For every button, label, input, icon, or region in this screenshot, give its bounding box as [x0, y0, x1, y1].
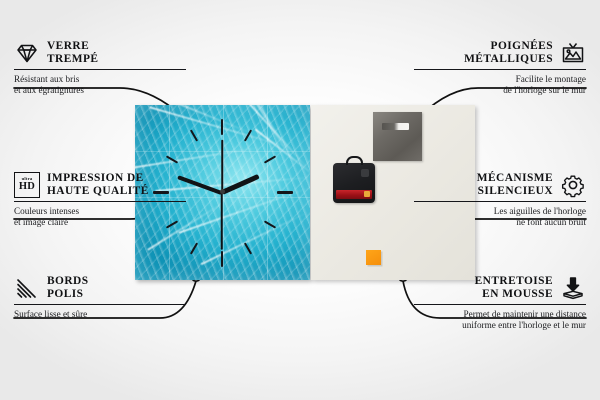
- callout-description: Surface lisse et sûre: [14, 309, 186, 320]
- callout-impression-haute-qualite: ultra HD IMPRESSION DE HAUTE QUALITÉ Cou…: [14, 172, 186, 228]
- aa-battery: [336, 190, 372, 199]
- callout-entretoise-en-mousse: ENTRETOISE EN MOUSSE Permet de maintenir…: [414, 275, 586, 331]
- battery-plus-terminal: [364, 191, 370, 197]
- callout-title: MÉCANISME SILENCIEUX: [477, 172, 553, 197]
- ultra-hd-icon: ultra HD: [14, 172, 40, 198]
- wall-mount-frame-icon: [560, 40, 586, 66]
- clock-tick: [264, 155, 276, 163]
- clock-tick: [166, 155, 178, 163]
- callout-divider: [414, 201, 586, 202]
- mechanism-hanging-loop: [346, 156, 363, 165]
- callout-description: Résistant aux bris et aux égratignures: [14, 74, 186, 96]
- callout-divider: [14, 304, 186, 305]
- diamond-icon: [14, 40, 40, 66]
- second-hand: [221, 192, 223, 250]
- callout-description: Facilite le montage de l'horloge sur le …: [414, 74, 586, 96]
- mechanism-time-knob: [361, 169, 369, 177]
- callout-description: Couleurs intenses et image claire: [14, 206, 186, 228]
- clock-tick: [221, 119, 223, 135]
- metal-hanging-bracket: [373, 112, 422, 161]
- callout-poignees-metalliques: POIGNÉES MÉTALLIQUES Facilite le montage…: [414, 40, 586, 96]
- clock-tick: [244, 242, 252, 254]
- clock-tick: [264, 220, 276, 228]
- callout-title: POIGNÉES MÉTALLIQUES: [464, 40, 553, 65]
- callout-divider: [414, 69, 586, 70]
- second-hand-tail: [221, 140, 223, 192]
- callout-mecanisme-silencieux: MÉCANISME SILENCIEUX Les aiguilles de l'…: [414, 172, 586, 228]
- clock-tick: [244, 129, 252, 141]
- bracket-keyhole-slot: [382, 123, 409, 130]
- ultra-hd-icon-main-label: HD: [19, 182, 35, 193]
- quartz-clock-mechanism: [333, 163, 375, 203]
- clock-tick: [277, 191, 293, 194]
- callout-title: IMPRESSION DE HAUTE QUALITÉ: [47, 172, 149, 197]
- callout-divider: [14, 201, 186, 202]
- clock-tick: [221, 251, 223, 267]
- callout-description: Les aiguilles de l'horloge ne font aucun…: [414, 206, 586, 228]
- callout-verre-trempe: VERRE TREMPÉ Résistant aux bris et aux é…: [14, 40, 186, 96]
- callout-title: ENTRETOISE EN MOUSSE: [475, 275, 553, 300]
- hand-center-cap: [220, 189, 225, 194]
- callout-bords-polis: BORDS POLIS Surface lisse et sûre: [14, 275, 186, 320]
- callout-divider: [414, 304, 586, 305]
- callout-divider: [14, 69, 186, 70]
- down-arrow-pad-icon: [560, 275, 586, 301]
- infographic-canvas: VERRE TREMPÉ Résistant aux bris et aux é…: [0, 0, 600, 400]
- gear-icon: [560, 172, 586, 198]
- callout-title: BORDS POLIS: [47, 275, 89, 300]
- clock-tick: [190, 242, 198, 254]
- clock-tick: [190, 129, 198, 141]
- polished-edge-icon: [14, 275, 40, 301]
- hour-hand: [221, 174, 259, 194]
- foam-spacer: [366, 250, 381, 265]
- callout-description: Permet de maintenir une distance uniform…: [414, 309, 586, 331]
- callout-title: VERRE TREMPÉ: [47, 40, 98, 65]
